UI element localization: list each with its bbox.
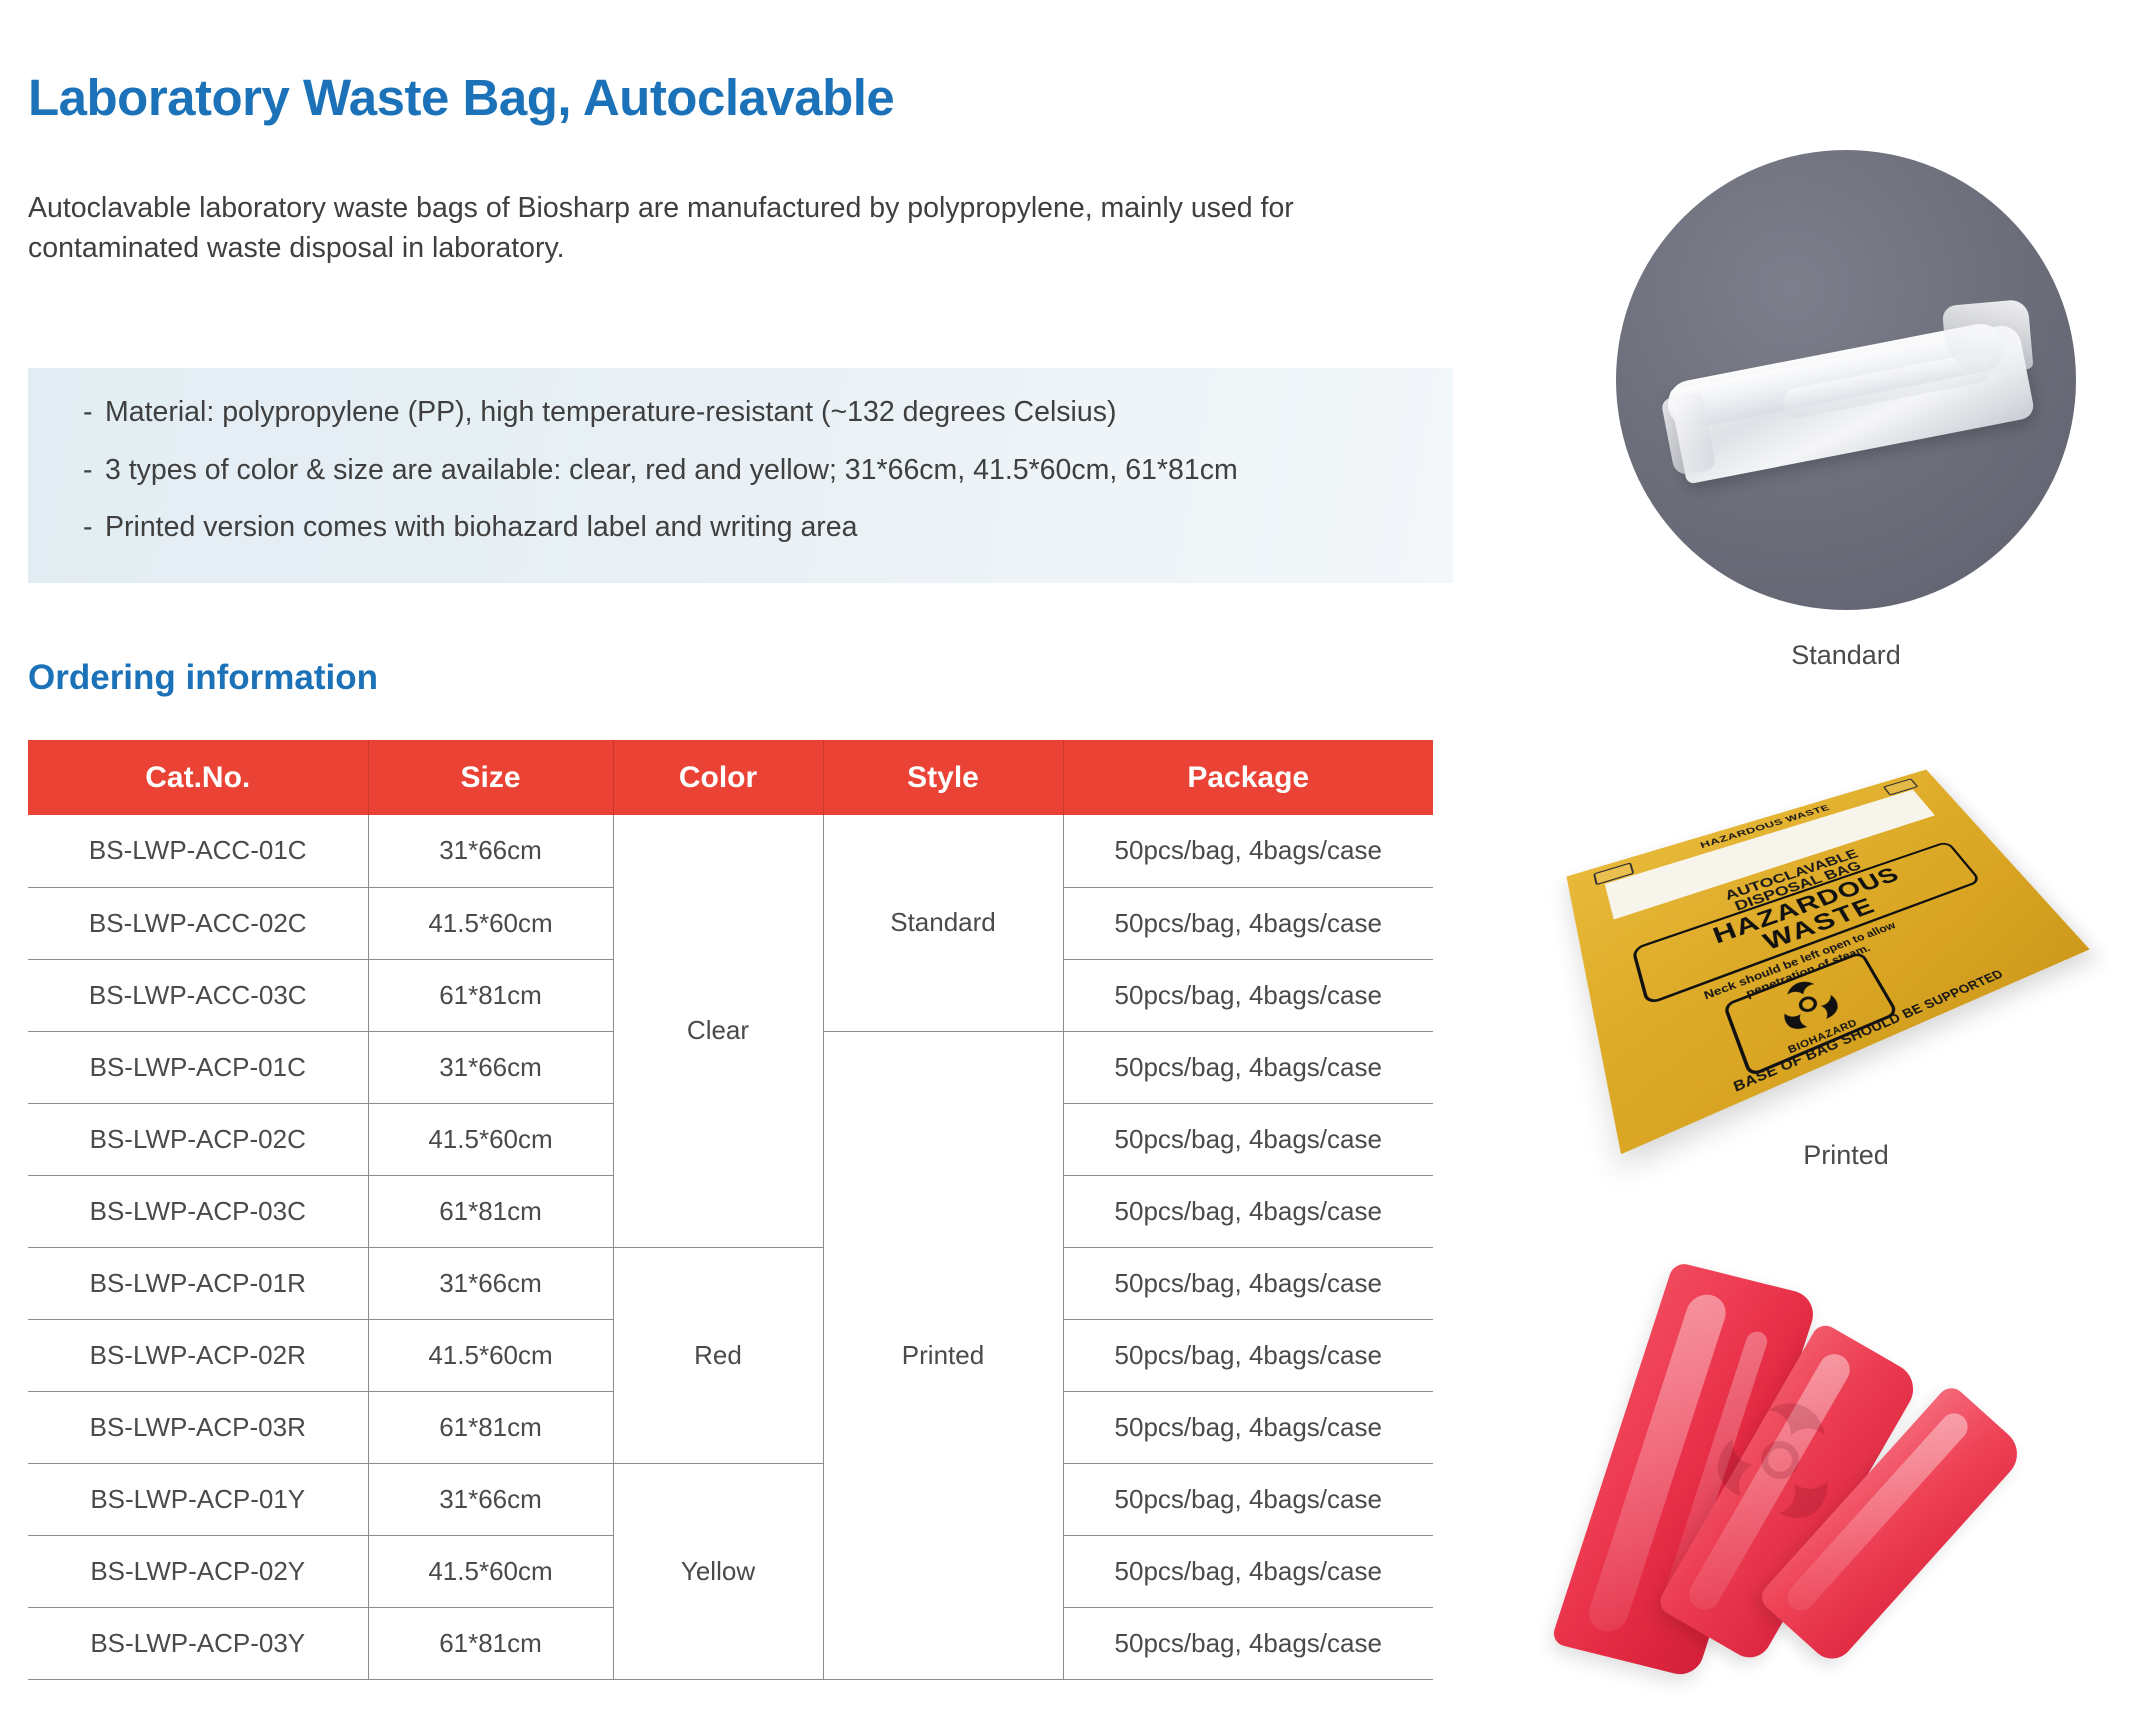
feature-item: -Material: polypropylene (PP), high temp… [83,398,1453,427]
table-row: BS-LWP-ACP-01Y 31*66cm Yellow 50pcs/bag,… [28,1463,1433,1535]
cell-cat-no: BS-LWP-ACP-02C [28,1103,368,1175]
cell-color-clear: Clear [613,815,823,1247]
cell-color-yellow: Yellow [613,1463,823,1679]
datasheet-page: Laboratory Waste Bag, Autoclavable Autoc… [0,0,2131,1722]
cell-package: 50pcs/bag, 4bags/case [1063,887,1433,959]
cell-cat-no: BS-LWP-ACC-03C [28,959,368,1031]
feature-item-label: 3 types of color & size are available: c… [105,454,1238,486]
cell-color-red: Red [613,1247,823,1463]
red-bags-product-image [1520,1230,2120,1700]
cell-cat-no: BS-LWP-ACP-01C [28,1031,368,1103]
page-title: Laboratory Waste Bag, Autoclavable [28,68,894,127]
cell-cat-no: BS-LWP-ACP-03Y [28,1607,368,1679]
cell-cat-no: BS-LWP-ACP-01R [28,1247,368,1319]
cell-style-standard: Standard [823,815,1063,1031]
column-header-style: Style [823,740,1063,815]
cell-cat-no: BS-LWP-ACP-02R [28,1319,368,1391]
cell-size: 61*81cm [368,1391,613,1463]
cell-package: 50pcs/bag, 4bags/case [1063,1247,1433,1319]
cell-package: 50pcs/bag, 4bags/case [1063,1463,1433,1535]
printed-image-caption: Printed [1616,1140,2076,1171]
cell-size: 61*81cm [368,1175,613,1247]
features-callout-box: -Material: polypropylene (PP), high temp… [28,368,1453,583]
feature-item: -Printed version comes with biohazard la… [83,513,1453,542]
cell-size: 41.5*60cm [368,1535,613,1607]
printed-product-image: HAZARDOUS WASTE AUTOCLAVABLE DISPOSAL BA… [1550,740,2080,1100]
ordering-information-heading: Ordering information [28,658,378,698]
product-images-column: Standard HAZARDOUS WASTE AUTOCLAVABLE DI… [1500,0,2131,1722]
left-content-column: Laboratory Waste Bag, Autoclavable Autoc… [28,0,1478,1722]
column-header-size: Size [368,740,613,815]
table-row: BS-LWP-ACP-01R 31*66cm Red 50pcs/bag, 4b… [28,1247,1433,1319]
bullet-dash-icon: - [83,398,105,427]
column-header-color: Color [613,740,823,815]
feature-item: -3 types of color & size are available: … [83,456,1453,485]
cell-size: 31*66cm [368,1247,613,1319]
cell-size: 41.5*60cm [368,1103,613,1175]
cell-package: 50pcs/bag, 4bags/case [1063,959,1433,1031]
column-header-cat-no: Cat.No. [28,740,368,815]
cell-cat-no: BS-LWP-ACP-03R [28,1391,368,1463]
cell-package: 50pcs/bag, 4bags/case [1063,1535,1433,1607]
standard-image-caption: Standard [1616,640,2076,671]
cell-package: 50pcs/bag, 4bags/case [1063,815,1433,887]
cell-package: 50pcs/bag, 4bags/case [1063,1031,1433,1103]
feature-item-label: Printed version comes with biohazard lab… [105,511,857,543]
cell-size: 41.5*60cm [368,887,613,959]
cell-package: 50pcs/bag, 4bags/case [1063,1319,1433,1391]
cell-size: 61*81cm [368,959,613,1031]
cell-size: 31*66cm [368,1031,613,1103]
bullet-dash-icon: - [83,513,105,542]
cell-size: 41.5*60cm [368,1319,613,1391]
cell-package: 50pcs/bag, 4bags/case [1063,1175,1433,1247]
feature-item-label: Material: polypropylene (PP), high tempe… [105,396,1116,428]
clear-bag-roll-illustration [1652,286,2046,514]
cell-size: 31*66cm [368,1463,613,1535]
cell-cat-no: BS-LWP-ACP-01Y [28,1463,368,1535]
cell-cat-no: BS-LWP-ACC-02C [28,887,368,959]
cell-size: 31*66cm [368,815,613,887]
cell-cat-no: BS-LWP-ACC-01C [28,815,368,887]
cell-package: 50pcs/bag, 4bags/case [1063,1103,1433,1175]
ordering-information-table: Cat.No. Size Color Style Package BS-LWP-… [28,740,1433,1680]
yellow-hazardous-bag-illustration: HAZARDOUS WASTE AUTOCLAVABLE DISPOSAL BA… [1566,770,2089,1155]
cell-package: 50pcs/bag, 4bags/case [1063,1391,1433,1463]
column-header-package: Package [1063,740,1433,815]
table-row: BS-LWP-ACC-01C 31*66cm Clear Standard 50… [28,815,1433,887]
bullet-dash-icon: - [83,456,105,485]
table-header-row: Cat.No. Size Color Style Package [28,740,1433,815]
cell-package: 50pcs/bag, 4bags/case [1063,1607,1433,1679]
cell-size: 61*81cm [368,1607,613,1679]
cell-cat-no: BS-LWP-ACP-03C [28,1175,368,1247]
intro-paragraph: Autoclavable laboratory waste bags of Bi… [28,188,1448,269]
cell-style-printed: Printed [823,1031,1063,1679]
cell-cat-no: BS-LWP-ACP-02Y [28,1535,368,1607]
standard-product-image [1616,150,2076,610]
